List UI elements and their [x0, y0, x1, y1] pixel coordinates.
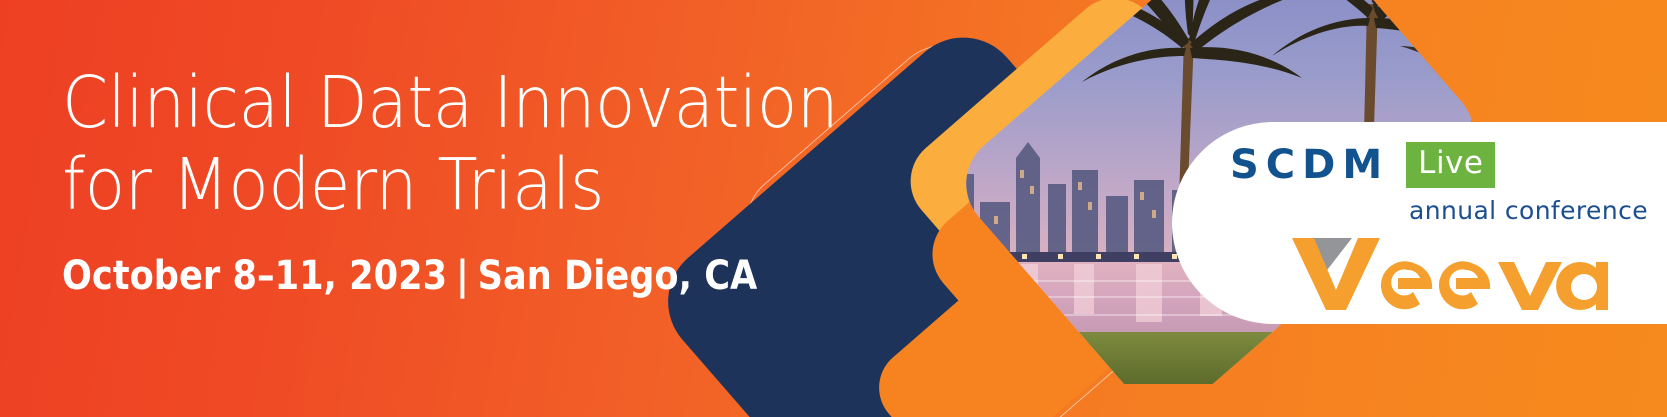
veeva-logo	[1290, 234, 1610, 314]
event-banner: Clinical Data Innovation for Modern Tria…	[0, 0, 1667, 417]
page-title: Clinical Data Innovation for Modern Tria…	[62, 62, 862, 227]
event-location: San Diego, CA	[478, 253, 758, 299]
headline-block: Clinical Data Innovation for Modern Tria…	[62, 62, 922, 299]
live-badge: Live	[1406, 142, 1495, 188]
event-dateline: October 8–11, 2023|San Diego, CA	[62, 253, 819, 299]
scdm-wordmark: SCDM	[1230, 145, 1389, 185]
event-date: October 8–11, 2023	[62, 253, 447, 299]
scdm-live-lockup: SCDM Live	[1230, 142, 1495, 188]
annual-conference-label: annual conference	[1409, 196, 1648, 225]
dateline-separator: |	[447, 253, 477, 299]
sponsor-logo-card: SCDM Live annual conference	[1172, 122, 1667, 324]
